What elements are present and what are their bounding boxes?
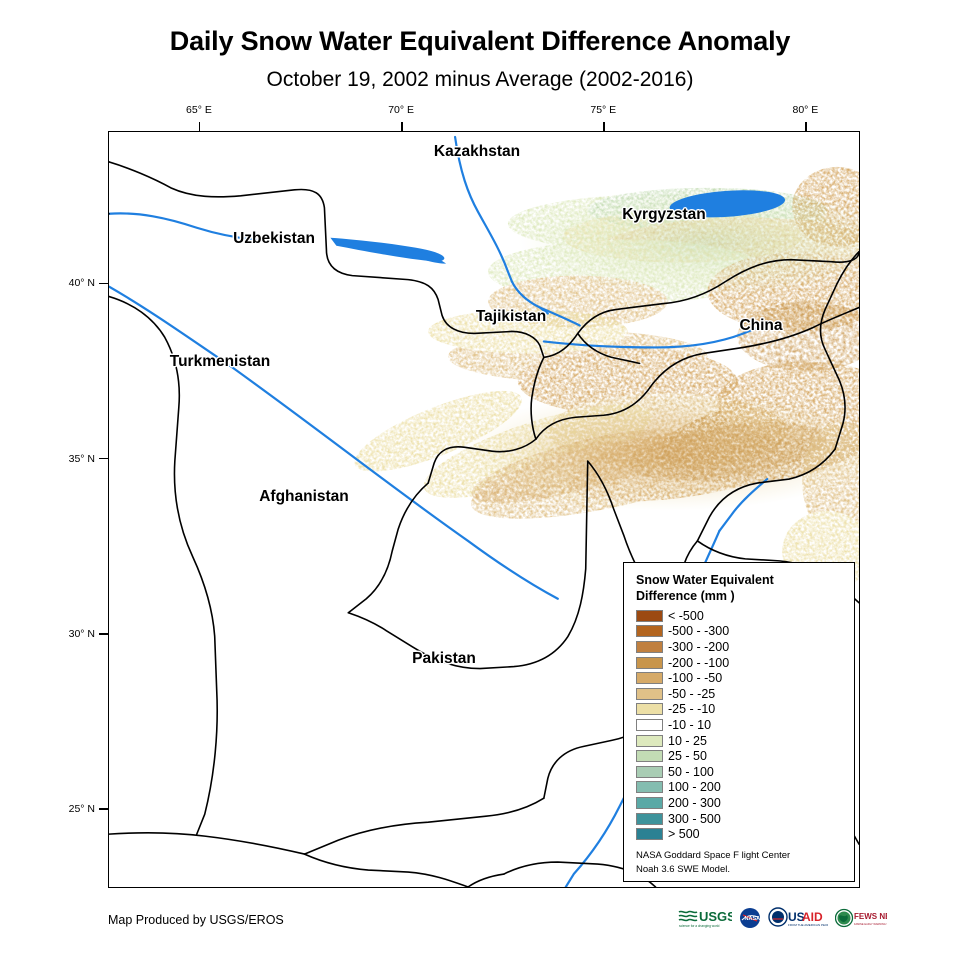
legend-title-line1: Snow Water Equivalent [636, 572, 844, 588]
country-label-kazakhstan: Kazakhstan [434, 143, 520, 161]
legend-swatch [636, 688, 663, 700]
lon-label-70: 70° E [388, 104, 414, 116]
lat-tick-25 [99, 808, 108, 810]
legend-swatch [636, 672, 663, 684]
legend-row: -25 - -10 [636, 702, 844, 718]
svg-text:science for a changing world: science for a changing world [679, 924, 720, 928]
legend-row: -300 - -200 [636, 639, 844, 655]
legend-swatch [636, 797, 663, 809]
svg-text:FEWS NET: FEWS NET [854, 912, 887, 921]
legend-row: 50 - 100 [636, 764, 844, 780]
lon-label-80: 80° E [793, 104, 819, 116]
lon-tick-65 [199, 122, 201, 131]
usaid-logo[interactable]: US AID FROM THE AMERICAN PEOPLE [768, 907, 828, 929]
legend-swatch [636, 610, 663, 622]
legend-swatch [636, 641, 663, 653]
map-credit: Map Produced by USGS/EROS [108, 913, 284, 927]
lon-tick-70 [401, 122, 403, 131]
legend-label: 10 - 25 [668, 734, 707, 748]
legend-swatch [636, 735, 663, 747]
country-label-afghanistan: Afghanistan [259, 488, 349, 506]
legend-swatch [636, 766, 663, 778]
svg-text:NASA: NASA [745, 916, 761, 922]
lat-label-25: 25° N [69, 803, 95, 815]
legend-title: Snow Water Equivalent Difference (mm ) [636, 572, 844, 604]
legend-class-list: < -500-500 - -300-300 - -200-200 - -100-… [636, 608, 844, 842]
lat-label-40: 40° N [69, 277, 95, 289]
legend-title-line2: Difference (mm ) [636, 588, 844, 604]
legend-row: < -500 [636, 608, 844, 624]
legend-label: -200 - -100 [668, 656, 729, 670]
legend-label: < -500 [668, 609, 704, 623]
legend-row: 300 - 500 [636, 811, 844, 827]
lat-tick-40 [99, 283, 108, 285]
legend-swatch [636, 657, 663, 669]
legend-label: -50 - -25 [668, 687, 715, 701]
legend-row: > 500 [636, 826, 844, 842]
legend-swatch [636, 703, 663, 715]
country-label-china: China [739, 317, 782, 335]
legend-label: 50 - 100 [668, 765, 714, 779]
lon-tick-80 [805, 122, 807, 131]
lon-label-75: 75° E [590, 104, 616, 116]
legend-label: > 500 [668, 827, 700, 841]
country-label-kyrgyzstan: Kyrgyzstan [622, 206, 706, 224]
legend-label: -500 - -300 [668, 624, 729, 638]
legend-label: -25 - -10 [668, 702, 715, 716]
page-title: Daily Snow Water Equivalent Difference A… [0, 26, 960, 57]
lat-label-30: 30° N [69, 628, 95, 640]
country-label-turkmenistan: Turkmenistan [170, 353, 271, 371]
lon-tick-75 [603, 122, 605, 131]
usgs-wave-icon [679, 911, 697, 920]
legend-row: -10 - 10 [636, 717, 844, 733]
legend-swatch [636, 750, 663, 762]
legend-swatch [636, 719, 663, 731]
fewsnet-logo[interactable]: FEWS NET FAMINE EARLY WARNING SYSTEMS NE… [835, 907, 887, 929]
legend-swatch [636, 625, 663, 637]
legend-label: 25 - 50 [668, 749, 707, 763]
legend-label: 300 - 500 [668, 812, 721, 826]
legend-row: -500 - -300 [636, 624, 844, 640]
legend-row: -200 - -100 [636, 655, 844, 671]
legend-label: -10 - 10 [668, 718, 711, 732]
page-subtitle: October 19, 2002 minus Average (2002-201… [0, 68, 960, 92]
svg-text:FROM THE AMERICAN PEOPLE: FROM THE AMERICAN PEOPLE [788, 923, 828, 927]
swe-anomaly-raster [346, 167, 859, 591]
svg-text:FAMINE EARLY WARNING SYSTEMS N: FAMINE EARLY WARNING SYSTEMS NETWORK [854, 922, 887, 926]
legend-note-line1: NASA Goddard Space F light Center [636, 849, 844, 863]
legend-label: 200 - 300 [668, 796, 721, 810]
legend-note-line2: Noah 3.6 SWE Model. [636, 863, 844, 877]
country-label-pakistan: Pakistan [412, 650, 476, 668]
legend-label: 100 - 200 [668, 780, 721, 794]
legend-row: 200 - 300 [636, 795, 844, 811]
country-label-uzbekistan: Uzbekistan [233, 230, 315, 248]
legend-row: -50 - -25 [636, 686, 844, 702]
legend-swatch [636, 813, 663, 825]
nasa-logo[interactable]: NASA [739, 907, 761, 929]
agency-logos: USGS science for a changing world NASA U… [678, 907, 887, 929]
usgs-logo[interactable]: USGS science for a changing world [678, 907, 732, 929]
legend-note: NASA Goddard Space F light Center Noah 3… [636, 849, 844, 877]
svg-text:AID: AID [802, 910, 823, 924]
legend-swatch [636, 828, 663, 840]
legend-label: -300 - -200 [668, 640, 729, 654]
legend-label: -100 - -50 [668, 671, 722, 685]
legend-row: -100 - -50 [636, 670, 844, 686]
lat-tick-30 [99, 633, 108, 635]
country-label-tajikistan: Tajikistan [476, 308, 546, 326]
legend-row: 25 - 50 [636, 748, 844, 764]
lat-label-35: 35° N [69, 453, 95, 465]
legend-row: 100 - 200 [636, 780, 844, 796]
legend-swatch [636, 781, 663, 793]
svg-text:USGS: USGS [699, 909, 732, 924]
legend-row: 10 - 25 [636, 733, 844, 749]
map-legend: Snow Water Equivalent Difference (mm ) <… [623, 562, 855, 882]
lon-label-65: 65° E [186, 104, 212, 116]
lat-tick-35 [99, 458, 108, 460]
